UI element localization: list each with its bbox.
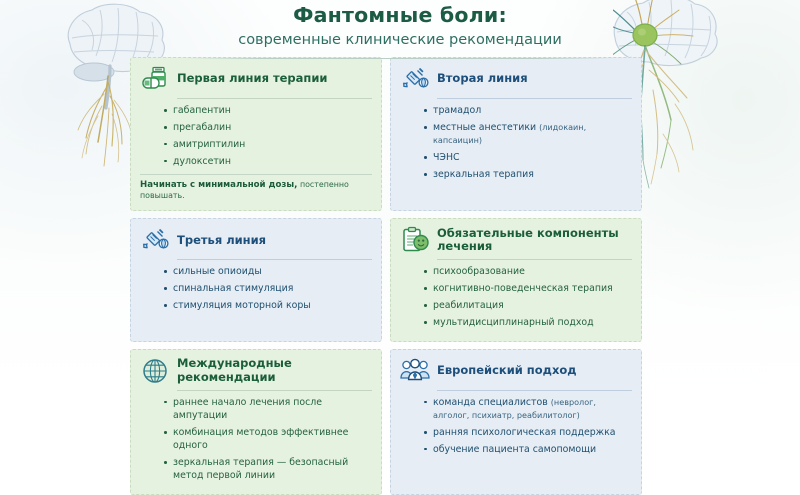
card-third-line[interactable]: Третья линиясильные опиоидыспинальная ст… xyxy=(130,218,382,341)
card-title-underline xyxy=(177,390,372,391)
card-header: Обязательные компоненты лечения xyxy=(400,226,632,254)
list-item-text: габапентин xyxy=(173,105,231,116)
list-item: реабилитация xyxy=(424,299,632,312)
card-header: Первая линия терапии xyxy=(140,65,372,93)
card-header: Европейский подход xyxy=(400,357,632,385)
card-note: Начинать с минимальной дозы, постепенно … xyxy=(140,174,372,202)
card-international-recommendations[interactable]: Международные рекомендациираннее начало … xyxy=(130,349,382,495)
list-item: местные анестетики (лидокаин, капсаицин) xyxy=(424,121,632,148)
card-bullet-list: габапентинпрегабалинамитриптилиндулоксет… xyxy=(140,104,372,168)
title-divider xyxy=(185,58,615,59)
list-item: комбинация методов эффективнее одного xyxy=(164,426,372,453)
pill-bottle-icon xyxy=(140,65,170,93)
card-title: Вторая линия xyxy=(437,72,528,85)
list-item-text: сильные опиоиды xyxy=(173,266,262,277)
card-bullet-list: психообразованиекогнитивно-поведенческая… xyxy=(400,265,632,329)
list-item-text: стимуляция моторной коры xyxy=(173,300,311,311)
card-title: Третья линия xyxy=(177,234,266,247)
list-item: зеркальная терапия — безопасный метод пе… xyxy=(164,456,372,483)
card-header: Международные рекомендации xyxy=(140,357,372,385)
list-item-text: амитриптилин xyxy=(173,139,245,150)
card-title: Первая линия терапии xyxy=(177,72,327,85)
list-item-text: ЧЭНС xyxy=(433,152,460,163)
list-item-text: зеркальная терапия — безопасный метод пе… xyxy=(173,457,348,481)
card-mandatory-components[interactable]: Обязательные компоненты леченияпсихообра… xyxy=(390,218,642,341)
list-item: стимуляция моторной коры xyxy=(164,299,372,312)
list-item-text: спинальная стимуляция xyxy=(173,283,293,294)
list-item: ЧЭНС xyxy=(424,151,632,164)
list-item: зеркальная терапия xyxy=(424,168,632,181)
card-title: Обязательные компоненты лечения xyxy=(437,227,632,253)
card-title-underline xyxy=(437,390,632,391)
card-bullet-list: сильные опиоидыспинальная стимуляциястим… xyxy=(140,265,372,312)
card-note-strong: Начинать с минимальной дозы, xyxy=(140,180,297,190)
card-title-underline xyxy=(437,259,632,260)
card-bullet-list: команда специалистов (невролог, алголог,… xyxy=(400,396,632,456)
card-first-line[interactable]: Первая линия терапиигабапентинпрегабалин… xyxy=(130,57,382,211)
page-subtitle: современные клинические рекомендации xyxy=(0,32,800,49)
card-title-underline xyxy=(437,98,632,99)
list-item-text: раннее начало лечения после ампутации xyxy=(173,397,322,421)
list-item-text: прегабалин xyxy=(173,122,231,133)
list-item: когнитивно-поведенческая терапия xyxy=(424,282,632,295)
list-item-text: обучение пациента самопомощи xyxy=(433,444,596,455)
list-item: амитриптилин xyxy=(164,138,372,151)
globe-icon xyxy=(140,357,170,385)
list-item-text: зеркальная терапия xyxy=(433,169,534,180)
card-header: Третья линия xyxy=(140,226,372,254)
list-item-text: психообразование xyxy=(433,266,525,277)
list-item-text: ранняя психологическая поддержка xyxy=(433,427,616,438)
list-item-text: команда специалистов xyxy=(433,397,551,408)
clipboard-icon xyxy=(400,226,430,254)
list-item-text: мультидисциплинарный подход xyxy=(433,317,594,328)
card-european-approach[interactable]: Европейский подходкоманда специалистов (… xyxy=(390,349,642,495)
list-item: спинальная стимуляция xyxy=(164,282,372,295)
card-title-underline xyxy=(177,98,372,99)
list-item-text: реабилитация xyxy=(433,300,504,311)
header: Фантомные боли: современные клинические … xyxy=(0,4,800,59)
list-item: трамадол xyxy=(424,104,632,117)
list-item: ранняя психологическая поддержка xyxy=(424,426,632,439)
list-item: обучение пациента самопомощи xyxy=(424,443,632,456)
list-item-text: трамадол xyxy=(433,105,481,116)
syringe-icon xyxy=(140,226,170,254)
syringe-icon xyxy=(400,65,430,93)
card-title-underline xyxy=(177,259,372,260)
list-item: габапентин xyxy=(164,104,372,117)
list-item-text: комбинация методов эффективнее одного xyxy=(173,427,348,451)
list-item: дулоксетин xyxy=(164,155,372,168)
card-title: Европейский подход xyxy=(437,364,577,377)
list-item: мультидисциплинарный подход xyxy=(424,316,632,329)
card-title: Международные рекомендации xyxy=(177,357,372,383)
card-second-line[interactable]: Вторая линиятрамадолместные анестетики (… xyxy=(390,57,642,211)
list-item-text: местные анестетики xyxy=(433,122,539,133)
team-icon xyxy=(400,357,430,385)
list-item-text: дулоксетин xyxy=(173,156,231,167)
page-title: Фантомные боли: xyxy=(0,4,800,28)
list-item-text: когнитивно-поведенческая терапия xyxy=(433,283,613,294)
list-item: сильные опиоиды xyxy=(164,265,372,278)
list-item: психообразование xyxy=(424,265,632,278)
card-bullet-list: трамадолместные анестетики (лидокаин, ка… xyxy=(400,104,632,181)
card-header: Вторая линия xyxy=(400,65,632,93)
list-item: прегабалин xyxy=(164,121,372,134)
card-bullet-list: раннее начало лечения после ампутацииком… xyxy=(140,396,372,483)
recommendation-card-grid: Первая линия терапиигабапентинпрегабалин… xyxy=(130,57,642,495)
